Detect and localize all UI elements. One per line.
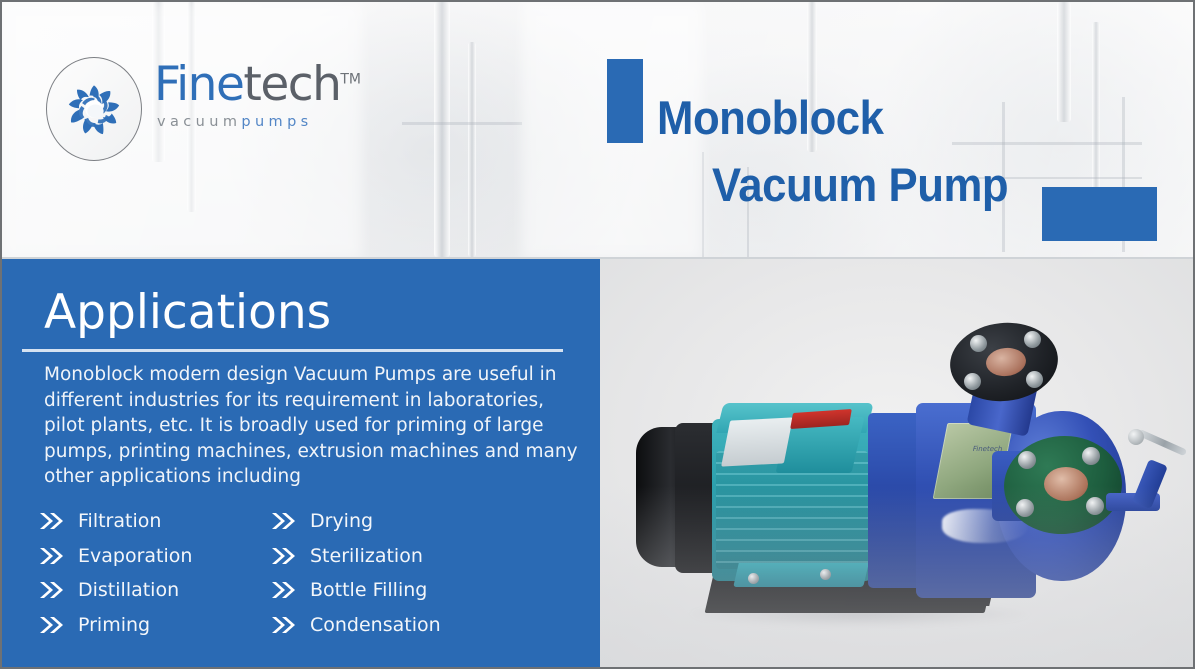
title-accent-rectangle xyxy=(1042,187,1157,241)
applications-lists: Filtration Evaporation Distillation Prim… xyxy=(38,504,578,642)
list-item-label: Distillation xyxy=(78,579,179,601)
double-chevron-right-icon xyxy=(270,545,300,567)
poster-page: FinetechTM vacuumpumps Monoblock Vacuum … xyxy=(0,0,1195,669)
list-item[interactable]: Drying xyxy=(270,504,502,539)
list-item[interactable]: Filtration xyxy=(38,504,270,539)
list-item-label: Bottle Filling xyxy=(310,579,427,601)
logo-tagline: vacuumpumps xyxy=(157,114,361,130)
double-chevron-right-icon xyxy=(270,614,300,636)
double-chevron-right-icon xyxy=(38,614,68,636)
double-chevron-right-icon xyxy=(38,579,68,601)
product-photo: Finetech xyxy=(600,259,1195,669)
brand-logo[interactable]: FinetechTM vacuumpumps xyxy=(46,57,366,162)
applications-heading-underline xyxy=(22,349,563,352)
title-line-1: Monoblock xyxy=(657,94,1048,141)
applications-heading: Applications xyxy=(44,285,331,340)
list-item-label: Priming xyxy=(78,614,150,636)
applications-column-1: Filtration Evaporation Distillation Prim… xyxy=(38,504,270,642)
list-item[interactable]: Distillation xyxy=(38,573,270,608)
title-line-2: Vacuum Pump xyxy=(712,161,1051,208)
double-chevron-right-icon xyxy=(270,510,300,532)
applications-panel: Applications Monoblock modern design Vac… xyxy=(2,259,600,669)
list-item[interactable]: Evaporation xyxy=(38,539,270,574)
double-chevron-right-icon xyxy=(38,545,68,567)
tagline-vacuum: vacuum xyxy=(157,114,241,130)
logo-word-tech: tech xyxy=(243,57,340,112)
list-item[interactable]: Priming xyxy=(38,608,270,643)
applications-column-2: Drying Sterilization Bottle Filling Cond… xyxy=(270,504,502,642)
impeller-turbine-icon xyxy=(46,57,142,161)
list-item[interactable]: Condensation xyxy=(270,608,502,643)
photo-vignette xyxy=(600,259,1195,669)
list-item[interactable]: Sterilization xyxy=(270,539,502,574)
page-title: Monoblock Vacuum Pump xyxy=(657,94,1077,208)
logo-wordmark: FinetechTM vacuumpumps xyxy=(154,61,361,130)
list-item-label: Evaporation xyxy=(78,545,192,567)
double-chevron-right-icon xyxy=(270,579,300,601)
list-item[interactable]: Bottle Filling xyxy=(270,573,502,608)
trademark-symbol: TM xyxy=(340,71,361,87)
tagline-pumps: pumps xyxy=(241,114,312,130)
list-item-label: Filtration xyxy=(78,510,161,532)
applications-description: Monoblock modern design Vacuum Pumps are… xyxy=(44,362,579,490)
logo-word-fine: Fine xyxy=(154,57,243,112)
title-accent-bar xyxy=(607,59,643,143)
list-item-label: Sterilization xyxy=(310,545,423,567)
list-item-label: Condensation xyxy=(310,614,441,636)
list-item-label: Drying xyxy=(310,510,373,532)
header-banner: FinetechTM vacuumpumps Monoblock Vacuum … xyxy=(2,2,1195,259)
double-chevron-right-icon xyxy=(38,510,68,532)
